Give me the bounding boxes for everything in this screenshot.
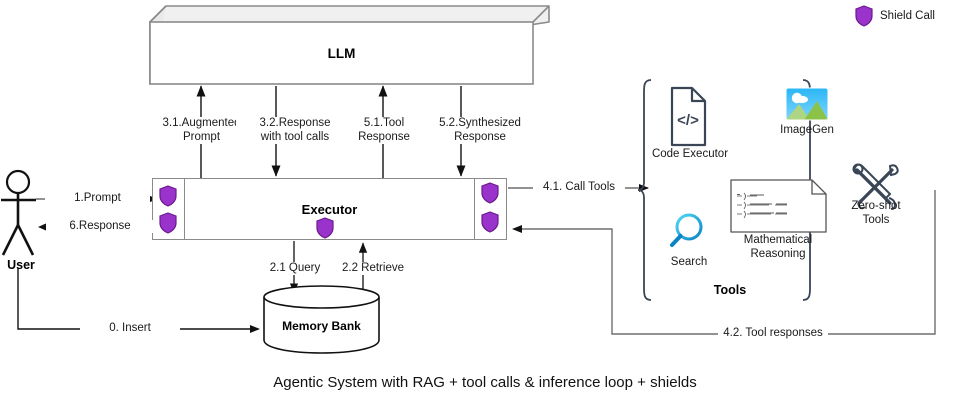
tools-title: Tools xyxy=(645,283,815,297)
executor-node[interactable]: Executor xyxy=(152,178,507,240)
edge-label-tool-response-line2: Response xyxy=(358,131,410,143)
magnifier-icon xyxy=(672,215,701,245)
tool-label-zero-shot-tools-line2: Tools xyxy=(863,214,890,226)
memory-bank-label: Memory Bank xyxy=(264,319,379,333)
edge-label-call-tools: 4.1. Call Tools xyxy=(533,181,625,194)
shield-icon[interactable] xyxy=(481,182,499,204)
user-label: User xyxy=(0,258,42,272)
edge-label-synthesized-response-line2: Response xyxy=(454,131,506,143)
svg-text:</>: </> xyxy=(677,112,699,129)
shield-icon[interactable] xyxy=(316,217,334,239)
legend: Shield Call xyxy=(855,5,935,27)
tool-label-code-executor: Code Executor xyxy=(645,148,735,162)
executor-left-shield-column xyxy=(153,179,185,239)
tool-label-imagegen: ImageGen xyxy=(767,124,847,138)
edge-label-augmented-prompt-line1: 3.1.Augmented xyxy=(162,117,240,129)
tool-label-zero-shot-tools-line1: Zero-shot xyxy=(851,200,900,212)
edge-label-tool-response: 5.1.Tool Response xyxy=(341,117,427,144)
formula-document-icon xyxy=(731,180,826,232)
edge-label-tool-responses: 4.2. Tool responses xyxy=(718,327,828,340)
executor-body: Executor xyxy=(185,179,474,239)
edge-label-augmented-prompt-line2: Prompt xyxy=(183,131,220,143)
tool-label-math-reasoning-line2: Reasoning xyxy=(751,248,806,260)
tool-label-math-reasoning-line1: Mathematical xyxy=(744,234,812,246)
llm-node[interactable]: LLM xyxy=(150,22,533,84)
user-figure xyxy=(1,171,36,255)
edge-label-response-tool-calls-line1: 3.2.Response xyxy=(260,117,331,129)
edge-label-synthesized-response: 5.2.Synthesized Response xyxy=(424,117,536,144)
shield-icon[interactable] xyxy=(481,211,499,233)
shield-icon xyxy=(855,5,873,27)
shield-icon[interactable] xyxy=(159,212,177,234)
edge-label-tool-response-line1: 5.1.Tool xyxy=(364,117,404,129)
edge-label-response-tool-calls: 3.2.Response with tool calls xyxy=(236,117,354,144)
code-document-icon: </> xyxy=(672,88,705,145)
tool-label-math-reasoning: Mathematical Reasoning xyxy=(723,234,833,261)
tool-label-search: Search xyxy=(659,256,719,270)
executor-right-shield-column xyxy=(474,179,506,239)
image-icon xyxy=(786,88,828,120)
edge-label-prompt: 1.Prompt xyxy=(45,192,150,205)
legend-label: Shield Call xyxy=(880,10,935,22)
edge-label-retrieve: 2.2 Retrieve xyxy=(328,262,418,275)
tool-label-zero-shot-tools: Zero-shot Tools xyxy=(838,200,914,227)
edge-label-synthesized-response-line1: 5.2.Synthesized xyxy=(439,117,521,129)
edge-label-query: 2.1 Query xyxy=(255,262,335,275)
llm-label: LLM xyxy=(328,46,356,61)
edge-label-response: 6.Response xyxy=(46,220,154,233)
edge-label-response-tool-calls-line2: with tool calls xyxy=(261,131,329,143)
executor-label: Executor xyxy=(302,202,358,217)
diagram-caption: Agentic System with RAG + tool calls & i… xyxy=(0,374,970,391)
shield-icon[interactable] xyxy=(159,185,177,207)
edge-label-insert: 0. Insert xyxy=(80,322,180,335)
tools-brace-left xyxy=(638,80,651,300)
